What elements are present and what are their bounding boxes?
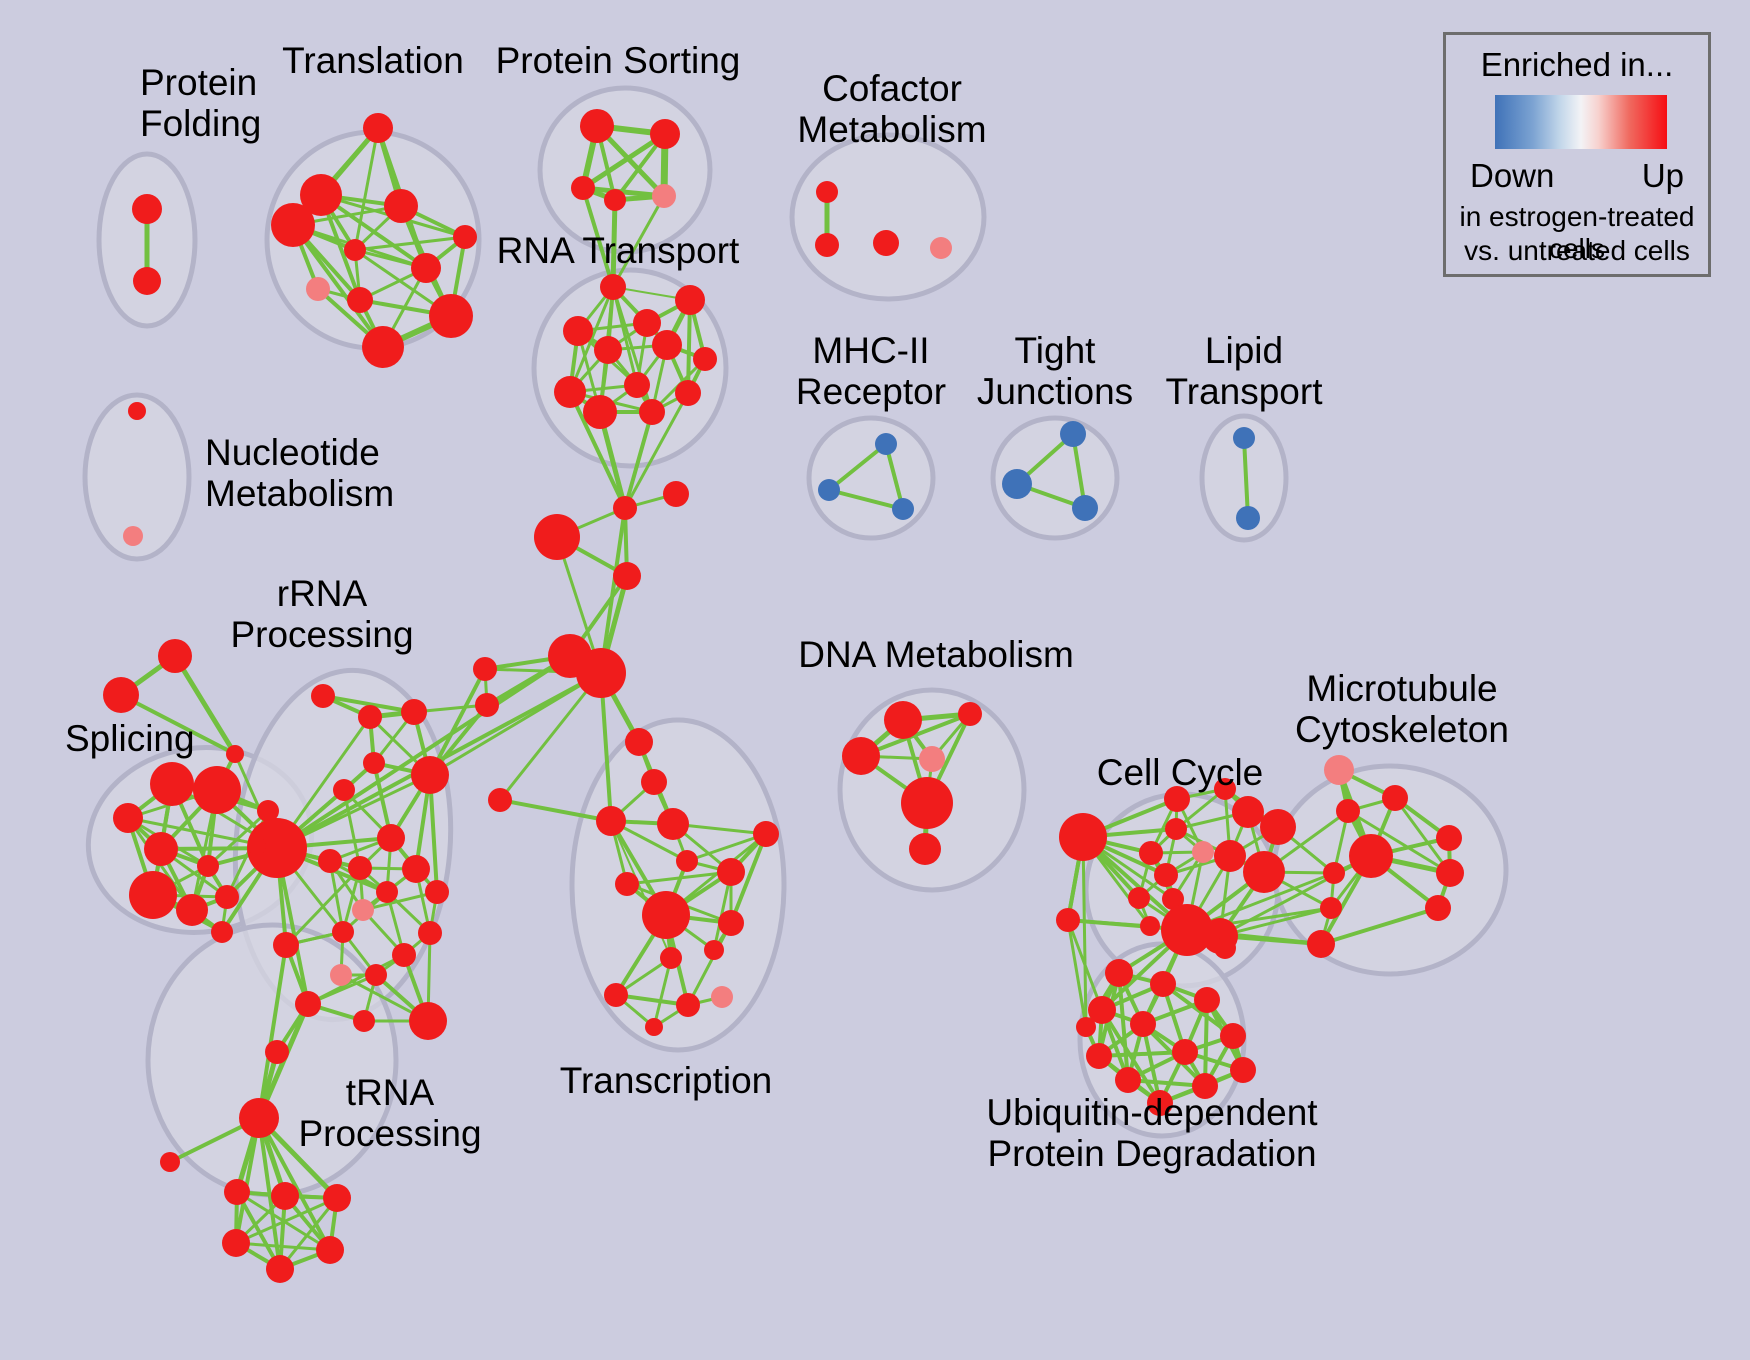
network-node[interactable]: [473, 657, 497, 681]
network-node[interactable]: [176, 894, 208, 926]
network-node[interactable]: [376, 881, 398, 903]
network-node[interactable]: [392, 943, 416, 967]
network-node[interactable]: [1230, 1057, 1256, 1083]
network-node[interactable]: [197, 855, 219, 877]
network-node[interactable]: [1232, 796, 1264, 828]
network-node[interactable]: [892, 498, 914, 520]
network-node[interactable]: [676, 850, 698, 872]
network-node[interactable]: [348, 856, 372, 880]
network-node[interactable]: [158, 639, 192, 673]
network-node[interactable]: [150, 762, 194, 806]
network-node[interactable]: [1172, 1039, 1198, 1065]
network-node[interactable]: [652, 330, 682, 360]
network-node[interactable]: [613, 562, 641, 590]
network-node[interactable]: [409, 1002, 447, 1040]
network-node[interactable]: [909, 833, 941, 865]
network-node[interactable]: [1105, 959, 1133, 987]
network-node[interactable]: [411, 253, 441, 283]
network-node[interactable]: [615, 872, 639, 896]
network-node[interactable]: [873, 230, 899, 256]
network-node[interactable]: [1236, 506, 1260, 530]
network-node[interactable]: [311, 684, 335, 708]
network-node[interactable]: [1336, 799, 1360, 823]
network-node[interactable]: [384, 189, 418, 223]
network-node[interactable]: [1320, 897, 1342, 919]
network-node[interactable]: [580, 109, 614, 143]
network-node[interactable]: [642, 891, 690, 939]
network-node[interactable]: [919, 746, 945, 772]
network-node[interactable]: [453, 225, 477, 249]
network-node[interactable]: [1436, 825, 1462, 851]
network-node[interactable]: [930, 237, 952, 259]
cluster-label: Translation: [282, 40, 464, 81]
network-node[interactable]: [1307, 930, 1335, 958]
network-node[interactable]: [365, 964, 387, 986]
network-node[interactable]: [554, 376, 586, 408]
network-node[interactable]: [604, 189, 626, 211]
network-node[interactable]: [1260, 809, 1296, 845]
cluster-label: Protein Sorting: [496, 40, 741, 81]
legend-up-label: Up: [1642, 157, 1684, 195]
network-node[interactable]: [718, 910, 744, 936]
cluster-ellipse: [809, 418, 933, 538]
legend-colorbar: [1495, 95, 1667, 149]
network-node[interactable]: [160, 1152, 180, 1172]
network-node[interactable]: [1140, 916, 1160, 936]
network-node[interactable]: [675, 285, 705, 315]
network-node[interactable]: [1324, 755, 1354, 785]
network-node[interactable]: [596, 806, 626, 836]
network-node[interactable]: [347, 287, 373, 313]
network-node[interactable]: [295, 991, 321, 1017]
cluster-ellipse: [792, 135, 984, 299]
network-node[interactable]: [123, 526, 143, 546]
network-node[interactable]: [129, 871, 177, 919]
network-edge: [1083, 837, 1086, 1027]
network-node[interactable]: [711, 986, 733, 1008]
network-node[interactable]: [215, 885, 239, 909]
network-node[interactable]: [1436, 859, 1464, 887]
network-node[interactable]: [842, 737, 880, 775]
network-node[interactable]: [818, 479, 840, 501]
network-node[interactable]: [1323, 862, 1345, 884]
network-node[interactable]: [604, 983, 628, 1007]
network-node[interactable]: [704, 940, 724, 960]
network-node[interactable]: [663, 481, 689, 507]
network-node[interactable]: [815, 233, 839, 257]
network-node[interactable]: [633, 309, 661, 337]
network-node[interactable]: [224, 1179, 250, 1205]
network-node[interactable]: [1056, 908, 1080, 932]
network-node[interactable]: [613, 496, 637, 520]
network-node[interactable]: [226, 745, 244, 763]
network-node[interactable]: [1059, 813, 1107, 861]
network-node[interactable]: [306, 277, 330, 301]
network-node[interactable]: [717, 858, 745, 886]
network-node[interactable]: [1130, 1011, 1156, 1037]
network-node[interactable]: [1060, 421, 1086, 447]
network-node[interactable]: [402, 855, 430, 883]
network-node[interactable]: [676, 993, 700, 1017]
network-node[interactable]: [1150, 971, 1176, 997]
network-node[interactable]: [583, 395, 617, 429]
cluster-label: Tight Junctions: [977, 330, 1133, 412]
cluster-label: Ubiquitin-dependent Protein Degradation: [986, 1092, 1317, 1174]
network-node[interactable]: [1349, 834, 1393, 878]
legend-box: Enriched in... Down Up in estrogen-treat…: [1443, 32, 1711, 277]
network-node[interactable]: [901, 777, 953, 829]
network-node[interactable]: [1243, 851, 1285, 893]
cluster-label: rRNA Processing: [230, 573, 413, 655]
cluster-label: Splicing: [65, 718, 195, 759]
network-node[interactable]: [248, 837, 266, 855]
network-node[interactable]: [344, 239, 366, 261]
network-node[interactable]: [418, 921, 442, 945]
network-node[interactable]: [1139, 841, 1163, 865]
network-node[interactable]: [625, 728, 653, 756]
cluster-label: Lipid Transport: [1166, 330, 1323, 412]
enrichment-network-figure: Protein FoldingTranslationProtein Sortin…: [0, 0, 1750, 1360]
network-node[interactable]: [271, 203, 315, 247]
network-node[interactable]: [318, 849, 342, 873]
network-node[interactable]: [265, 1040, 289, 1064]
network-node[interactable]: [576, 648, 626, 698]
network-node[interactable]: [1382, 785, 1408, 811]
network-node[interactable]: [133, 267, 161, 295]
network-node[interactable]: [128, 402, 146, 420]
network-node[interactable]: [132, 194, 162, 224]
cluster-label: Microtubule Cytoskeleton: [1295, 668, 1509, 750]
network-node[interactable]: [401, 699, 427, 725]
network-node[interactable]: [1072, 495, 1098, 521]
cluster-ellipse: [540, 88, 710, 252]
network-node[interactable]: [660, 947, 682, 969]
network-node[interactable]: [645, 1018, 663, 1036]
network-node[interactable]: [1194, 987, 1220, 1013]
cluster-label: Nucleotide Metabolism: [205, 432, 394, 514]
cluster-label: Transcription: [560, 1060, 772, 1101]
network-node[interactable]: [362, 326, 404, 368]
network-node[interactable]: [103, 677, 139, 713]
network-node[interactable]: [1165, 818, 1187, 840]
network-node[interactable]: [377, 824, 405, 852]
network-node[interactable]: [1233, 427, 1255, 449]
network-node[interactable]: [958, 702, 982, 726]
network-node[interactable]: [1128, 887, 1150, 909]
network-node[interactable]: [353, 1010, 375, 1032]
network-node[interactable]: [211, 921, 233, 943]
network-node[interactable]: [693, 347, 717, 371]
network-node[interactable]: [563, 316, 593, 346]
network-node[interactable]: [273, 932, 299, 958]
cluster-label: RNA Transport: [497, 230, 740, 271]
network-node[interactable]: [1002, 469, 1032, 499]
network-node[interactable]: [1214, 937, 1236, 959]
network-node[interactable]: [1086, 1043, 1112, 1069]
network-node[interactable]: [358, 705, 382, 729]
network-node[interactable]: [363, 113, 393, 143]
network-node[interactable]: [425, 880, 449, 904]
legend-subtitle-line2: vs. untreated cells: [1446, 235, 1708, 267]
network-node[interactable]: [534, 514, 580, 560]
network-node[interactable]: [600, 274, 626, 300]
network-node[interactable]: [641, 769, 667, 795]
network-node[interactable]: [144, 832, 178, 866]
network-node[interactable]: [332, 921, 354, 943]
network-node[interactable]: [594, 336, 622, 364]
network-node[interactable]: [113, 803, 143, 833]
network-node[interactable]: [333, 779, 355, 801]
network-node[interactable]: [266, 1255, 294, 1283]
network-node[interactable]: [657, 808, 689, 840]
network-node[interactable]: [330, 964, 352, 986]
network-node[interactable]: [650, 119, 680, 149]
network-node[interactable]: [475, 693, 499, 717]
network-node[interactable]: [316, 1236, 344, 1264]
network-node[interactable]: [675, 380, 701, 406]
cluster-label: Cofactor Metabolism: [797, 68, 986, 150]
network-node[interactable]: [1425, 895, 1451, 921]
network-node[interactable]: [1214, 840, 1246, 872]
network-node[interactable]: [1076, 1017, 1096, 1037]
network-node[interactable]: [193, 766, 241, 814]
network-node[interactable]: [1192, 841, 1214, 863]
network-node[interactable]: [411, 756, 449, 794]
network-node[interactable]: [816, 181, 838, 203]
cluster-label: tRNA Processing: [298, 1072, 481, 1154]
network-node[interactable]: [753, 821, 779, 847]
network-node[interactable]: [271, 1182, 299, 1210]
network-node[interactable]: [222, 1229, 250, 1257]
network-node[interactable]: [323, 1184, 351, 1212]
network-node[interactable]: [624, 372, 650, 398]
cluster-label: Protein Folding: [140, 62, 261, 144]
network-node[interactable]: [488, 788, 512, 812]
cluster-label: MHC-II Receptor: [796, 330, 946, 412]
network-node[interactable]: [239, 1098, 279, 1138]
network-node[interactable]: [639, 399, 665, 425]
network-node[interactable]: [1154, 863, 1178, 887]
network-node[interactable]: [429, 294, 473, 338]
network-node[interactable]: [1220, 1023, 1246, 1049]
network-node[interactable]: [884, 701, 922, 739]
legend-down-label: Down: [1470, 157, 1554, 195]
legend-title: Enriched in...: [1446, 46, 1708, 84]
network-node[interactable]: [352, 899, 374, 921]
network-node[interactable]: [363, 752, 385, 774]
cluster-label: DNA Metabolism: [798, 634, 1074, 675]
cluster-label: Cell Cycle: [1097, 752, 1264, 793]
network-node[interactable]: [571, 176, 595, 200]
network-node[interactable]: [875, 433, 897, 455]
network-node[interactable]: [1115, 1067, 1141, 1093]
network-node[interactable]: [652, 184, 676, 208]
